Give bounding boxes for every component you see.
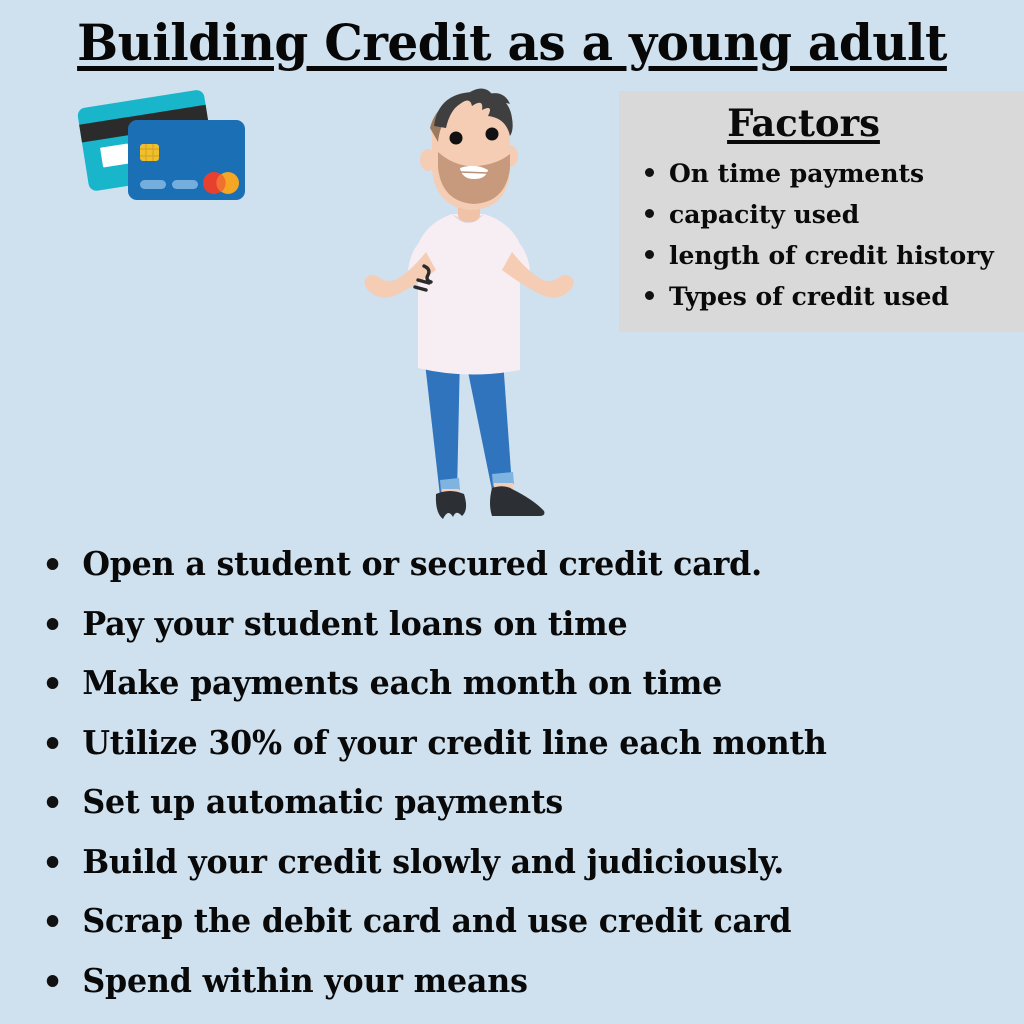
tips-list-item: Pay your student loans on time xyxy=(42,594,964,654)
bullet-icon xyxy=(645,209,654,218)
tips-item-label: Utilize 30% of your credit line each mon… xyxy=(82,723,826,762)
tips-item-label: Scrap the debit card and use credit card xyxy=(82,901,791,940)
factors-item-label: capacity used xyxy=(669,200,859,229)
tips-list-item: Spend within your means xyxy=(42,951,964,1011)
bullet-icon xyxy=(47,975,59,987)
factors-item-label: length of credit history xyxy=(669,241,994,270)
tips-list-item: Set up automatic payments xyxy=(42,772,964,832)
factors-item-label: Types of credit used xyxy=(669,282,949,311)
tips-item-label: Set up automatic payments xyxy=(82,782,563,821)
credit-cards-illustration xyxy=(72,88,272,223)
tips-list-item: Scrap the debit card and use credit card xyxy=(42,891,964,951)
factors-item-label: On time payments xyxy=(669,159,924,188)
card-number-bar xyxy=(140,180,166,189)
tips-list-item: Open a student or secured credit card. xyxy=(42,534,964,594)
torso-shirt xyxy=(408,214,530,375)
tips-item-label: Make payments each month on time xyxy=(82,663,722,702)
bullet-icon xyxy=(645,291,654,300)
card-number-bar xyxy=(172,180,198,189)
eye xyxy=(486,128,499,141)
card-network-logo-icon xyxy=(203,172,239,194)
tips-item-label: Pay your student loans on time xyxy=(82,604,627,643)
page-title: Building Credit as a young adult xyxy=(15,14,1008,72)
credit-tips-list: Open a student or secured credit card. P… xyxy=(42,534,1002,1010)
shoes xyxy=(436,486,545,519)
factors-heading: Factors xyxy=(601,101,1006,145)
tips-item-label: Spend within your means xyxy=(82,961,527,1000)
infographic-poster: Building Credit as a young adult xyxy=(0,0,1024,1024)
bullet-icon xyxy=(47,915,59,927)
factors-list-item: Types of credit used xyxy=(645,276,1024,317)
head xyxy=(420,88,518,210)
shrugging-man-illustration xyxy=(352,84,614,532)
bullet-icon xyxy=(47,856,59,868)
factors-list-item: On time payments xyxy=(645,153,1024,194)
tips-list-item: Make payments each month on time xyxy=(42,653,964,713)
factors-panel: Factors On time payments capacity used l… xyxy=(619,91,1024,332)
bullet-icon xyxy=(47,558,59,570)
bullet-icon xyxy=(47,796,59,808)
bullet-icon xyxy=(47,618,59,630)
tips-item-label: Build your credit slowly and judiciously… xyxy=(82,842,784,881)
bullet-icon xyxy=(47,677,59,689)
bullet-icon xyxy=(645,168,654,177)
card-chip-icon xyxy=(140,144,159,161)
bullet-icon xyxy=(645,250,654,259)
tips-list-item: Build your credit slowly and judiciously… xyxy=(42,832,964,892)
factors-list-item: capacity used xyxy=(645,194,1024,235)
tips-list-item: Utilize 30% of your credit line each mon… xyxy=(42,713,964,773)
tips-item-label: Open a student or secured credit card. xyxy=(82,544,762,583)
bullet-icon xyxy=(47,737,59,749)
factors-list: On time payments capacity used length of… xyxy=(619,153,1024,317)
front-credit-card xyxy=(128,120,245,200)
factors-list-item: length of credit history xyxy=(645,235,1024,276)
eye xyxy=(450,132,463,145)
